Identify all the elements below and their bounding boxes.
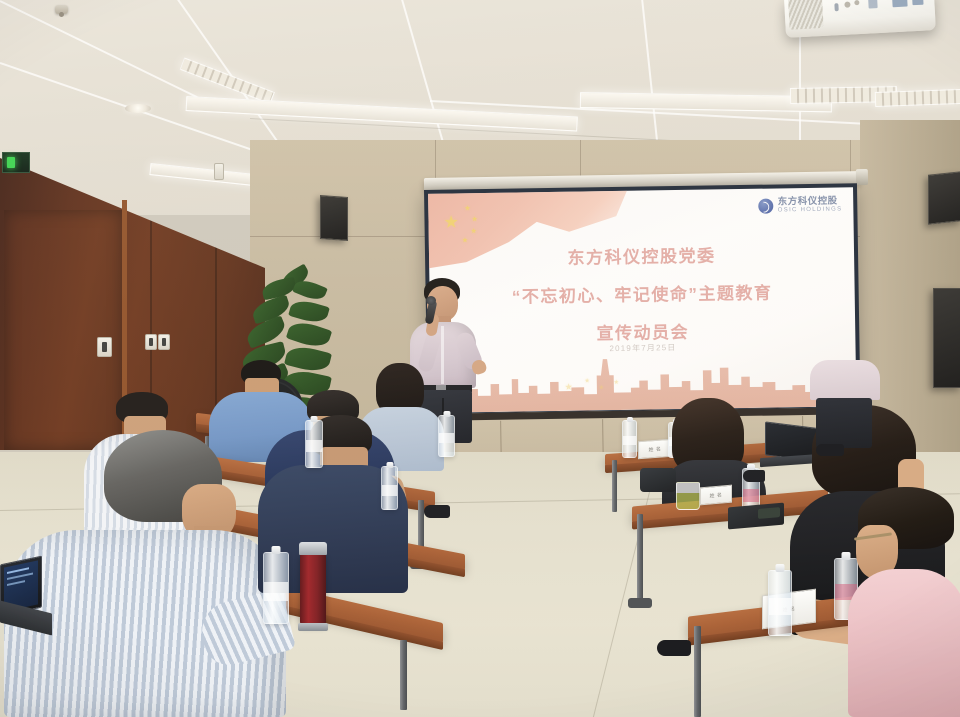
light-switch-plate[interactable] [97, 337, 112, 357]
thermos [300, 553, 326, 625]
wall-sensor [214, 163, 224, 180]
tea-glass [676, 482, 700, 510]
logo-text-en: OSIC HOLDINGS [778, 206, 843, 213]
desk-leg [612, 460, 617, 512]
shoe [816, 444, 844, 456]
slide-content: ★ ★ ★ ★ ★ ★ ★ ★ ★ 东方科仪控股 OSIC HOLDINGS 东… [428, 187, 856, 413]
attendee-standing-back [810, 360, 880, 448]
name-card-text: 姓 名 [710, 491, 723, 499]
shoe [743, 470, 765, 482]
flag-star-icon: ★ [462, 237, 468, 244]
flag-star-icon: ★ [471, 228, 477, 235]
water-bottle [305, 420, 323, 468]
flag-star-icon: ★ [471, 216, 477, 223]
phone[interactable] [758, 507, 780, 519]
chair-back [640, 468, 676, 492]
downlight-icon [125, 104, 151, 113]
outlet-plate[interactable] [145, 334, 157, 350]
attendee-front-left [4, 430, 294, 717]
water-bottle [263, 552, 289, 624]
wall-speaker [928, 171, 960, 225]
desk-leg [400, 640, 407, 710]
flag-star-icon: ★ [443, 213, 459, 230]
slide-title-line-2: “不忘初心、牢记使命”主题教育 [429, 277, 854, 309]
desk-foot [628, 598, 652, 608]
water-bottle [381, 466, 398, 510]
attendee-shirt [848, 569, 960, 717]
wall-speaker [320, 195, 348, 241]
osic-circle-logo-icon [759, 198, 774, 213]
desk-leg [637, 514, 643, 600]
attendee-pink [848, 487, 960, 717]
water-bottle [768, 570, 792, 636]
company-logo: 东方科仪控股 OSIC HOLDINGS [759, 196, 843, 214]
exit-sign-icon [2, 152, 30, 173]
shoe [424, 505, 450, 518]
slide-title-line-1: 东方科仪控股党委 [429, 239, 854, 271]
wall-display-panel [933, 288, 960, 388]
outlet-plate[interactable] [158, 334, 170, 350]
water-bottle [622, 420, 637, 458]
shoe [657, 640, 691, 656]
sprinkler-icon [55, 5, 68, 14]
desk-leg [694, 626, 701, 717]
screen-endcap [856, 169, 868, 185]
water-bottle [438, 415, 455, 457]
flag-star-icon: ★ [464, 205, 470, 212]
name-card: 姓 名 [700, 485, 732, 506]
projector-vent [788, 0, 824, 30]
name-card-text: 姓 名 [649, 445, 662, 453]
photo-scene: ★ ★ ★ ★ ★ ★ ★ ★ ★ 东方科仪控股 OSIC HOLDINGS 东… [0, 0, 960, 717]
